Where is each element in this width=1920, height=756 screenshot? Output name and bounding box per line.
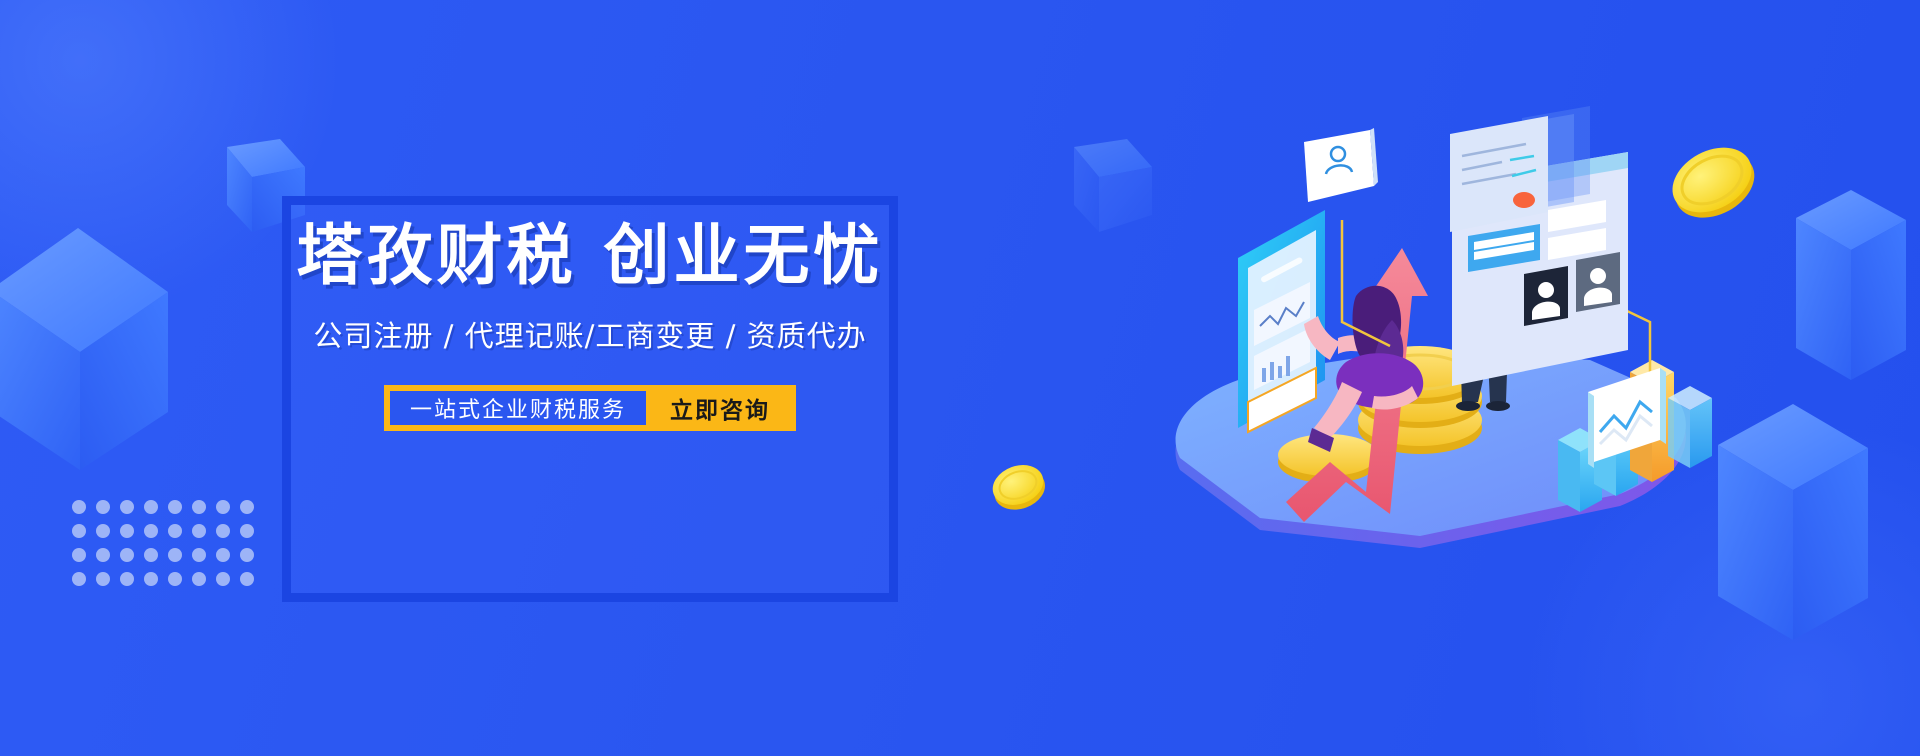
dot-grid-decoration (72, 500, 264, 596)
gold-coin-center-icon (987, 458, 1051, 516)
dot (120, 572, 134, 586)
dot (240, 548, 254, 562)
dot (240, 524, 254, 538)
dot (168, 524, 182, 538)
dot (120, 548, 134, 562)
headline-frame: 塔孜财税 创业无忧 公司注册 / 代理记账/工商变更 / 资质代办 一站式企业财… (282, 196, 898, 602)
dot (240, 572, 254, 586)
dot (216, 524, 230, 538)
dot (144, 572, 158, 586)
dot (96, 548, 110, 562)
dot (216, 572, 230, 586)
dot (192, 524, 206, 538)
page-title: 塔孜财税 创业无忧 (297, 219, 884, 293)
dot (216, 548, 230, 562)
headline-subtitle: 公司注册 / 代理记账/工商变更 / 资质代办 (313, 313, 866, 355)
cta-tag-label: 一站式企业财税服务 (390, 391, 646, 425)
iso-prism-right-bottom-icon (1718, 404, 1868, 640)
consult-now-button[interactable]: 立即咨询 (646, 385, 796, 431)
dot (144, 524, 158, 538)
dot (96, 524, 110, 538)
dot (72, 524, 86, 538)
dot (72, 500, 86, 514)
dot (96, 572, 110, 586)
dot (144, 500, 158, 514)
dot (240, 500, 254, 514)
dot (192, 500, 206, 514)
dot (192, 572, 206, 586)
dot (168, 500, 182, 514)
iso-prism-left-edge-icon (0, 228, 168, 470)
dot (96, 500, 110, 514)
dot (192, 548, 206, 562)
promo-banner: 塔孜财税 创业无忧 公司注册 / 代理记账/工商变更 / 资质代办 一站式企业财… (0, 0, 1920, 756)
dot (120, 500, 134, 514)
dot (168, 572, 182, 586)
dot (216, 500, 230, 514)
dot (144, 548, 158, 562)
dot (72, 572, 86, 586)
isometric-finance-illustration (1120, 110, 1740, 580)
dot (120, 524, 134, 538)
profile-card-icon (1304, 128, 1378, 202)
iso-prism-right-top-icon (1796, 190, 1906, 380)
cta-bar: 一站式企业财税服务 立即咨询 (384, 385, 796, 431)
dot (168, 548, 182, 562)
dot (72, 548, 86, 562)
